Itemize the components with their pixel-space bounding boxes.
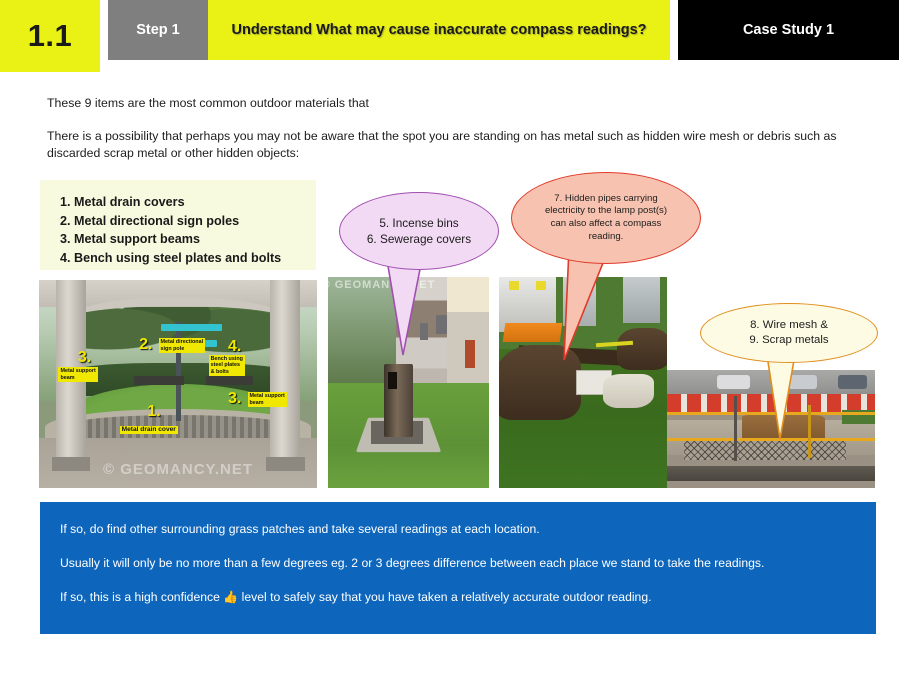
bench-right — [206, 376, 253, 385]
slide-number: 1.1 — [0, 0, 100, 72]
intro-paragraph-1: These 9 items are the most common outdoo… — [47, 95, 747, 112]
callout-line-3: can also affect a compass — [545, 218, 667, 231]
watermark: © GEOMANCY.NET — [39, 461, 317, 478]
callout-line-1: 8. Wire mesh & — [749, 318, 828, 333]
directional-sign-post — [176, 322, 181, 422]
callout-wire-mesh: 8. Wire mesh & 9. Scrap metals — [700, 303, 878, 443]
callout-line-2: 6. Sewerage covers — [367, 231, 471, 247]
thumbs-up-icon: 👍 — [223, 590, 238, 604]
photo-pavilion-garden: 2. Metal directional sign pole 3. Metal … — [39, 280, 317, 488]
materials-list-box: 1. Metal drain covers 2. Metal direction… — [40, 180, 316, 270]
annotation-number-3b: 3. — [228, 390, 241, 408]
annotation-number-1: 1. — [147, 403, 160, 421]
annotation-number-3a: 3. — [78, 349, 91, 367]
material-item-4: 4. Bench using steel plates and bolts — [60, 249, 316, 268]
annotation-label-4: Bench using steel plates & bolts — [209, 355, 245, 376]
cement-bag — [603, 374, 653, 408]
annotation-label-3b: Metal support beam — [248, 392, 287, 407]
bench-left — [134, 376, 184, 385]
callout-bubble-body: 5. Incense bins 6. Sewerage covers — [339, 192, 499, 270]
incense-bin-opening — [388, 372, 398, 389]
callout-hidden-pipes: 7. Hidden pipes carrying electricity to … — [511, 172, 701, 362]
annotation-label-3a: Metal support beam — [58, 367, 97, 382]
sign-plate-2 — [186, 324, 222, 331]
callout-text: 5. Incense bins 6. Sewerage covers — [367, 215, 471, 247]
advice-line-3: If so, this is a high confidence 👍 level… — [60, 589, 652, 606]
callout-line-2: 9. Scrap metals — [749, 333, 828, 348]
case-study-badge: Case Study 1 — [678, 0, 899, 60]
callout-incense-bins: 5. Incense bins 6. Sewerage covers — [339, 192, 499, 357]
annotation-label-1: Metal drain cover — [120, 426, 178, 434]
intro-paragraph-2: There is a possibility that perhaps you … — [47, 128, 862, 162]
callout-text: 7. Hidden pipes carrying electricity to … — [545, 193, 667, 243]
annotation-label-2: Metal directional sign pole — [159, 338, 206, 353]
callout-bubble-body: 8. Wire mesh & 9. Scrap metals — [700, 303, 878, 363]
material-item-2: 2. Metal directional sign poles — [60, 212, 316, 231]
annotation-number-4: 4. — [228, 338, 241, 356]
wire-mesh — [684, 441, 846, 460]
material-item-3: 3. Metal support beams — [60, 230, 316, 249]
step-badge: Step 1 — [108, 0, 208, 60]
callout-bubble-body: 7. Hidden pipes carrying electricity to … — [511, 172, 701, 264]
material-item-1: 1. Metal drain covers — [60, 193, 316, 212]
advice-line-1: If so, do find other surrounding grass p… — [60, 521, 540, 538]
callout-text: 8. Wire mesh & 9. Scrap metals — [749, 318, 828, 348]
callout-line-2: electricity to the lamp post(s) — [545, 205, 667, 218]
callout-line-4: reading. — [545, 231, 667, 244]
pavilion-column-right — [270, 280, 301, 463]
annotation-number-2: 2. — [139, 336, 152, 354]
advice-line-2: Usually it will only be no more than a f… — [60, 555, 764, 572]
callout-line-1: 5. Incense bins — [367, 215, 471, 231]
advice-line-3-part-2: level to safely say that you have taken … — [242, 590, 652, 604]
header-bar: 1.1 Step 1 Understand What may cause ina… — [0, 0, 899, 72]
kerb-edge — [667, 466, 875, 481]
advice-panel: If so, do find other surrounding grass p… — [40, 502, 876, 634]
advice-line-3-part-1: If so, this is a high confidence — [60, 590, 220, 604]
page-title: Understand What may cause inaccurate com… — [208, 0, 670, 60]
callout-line-1: 7. Hidden pipes carrying — [545, 193, 667, 206]
